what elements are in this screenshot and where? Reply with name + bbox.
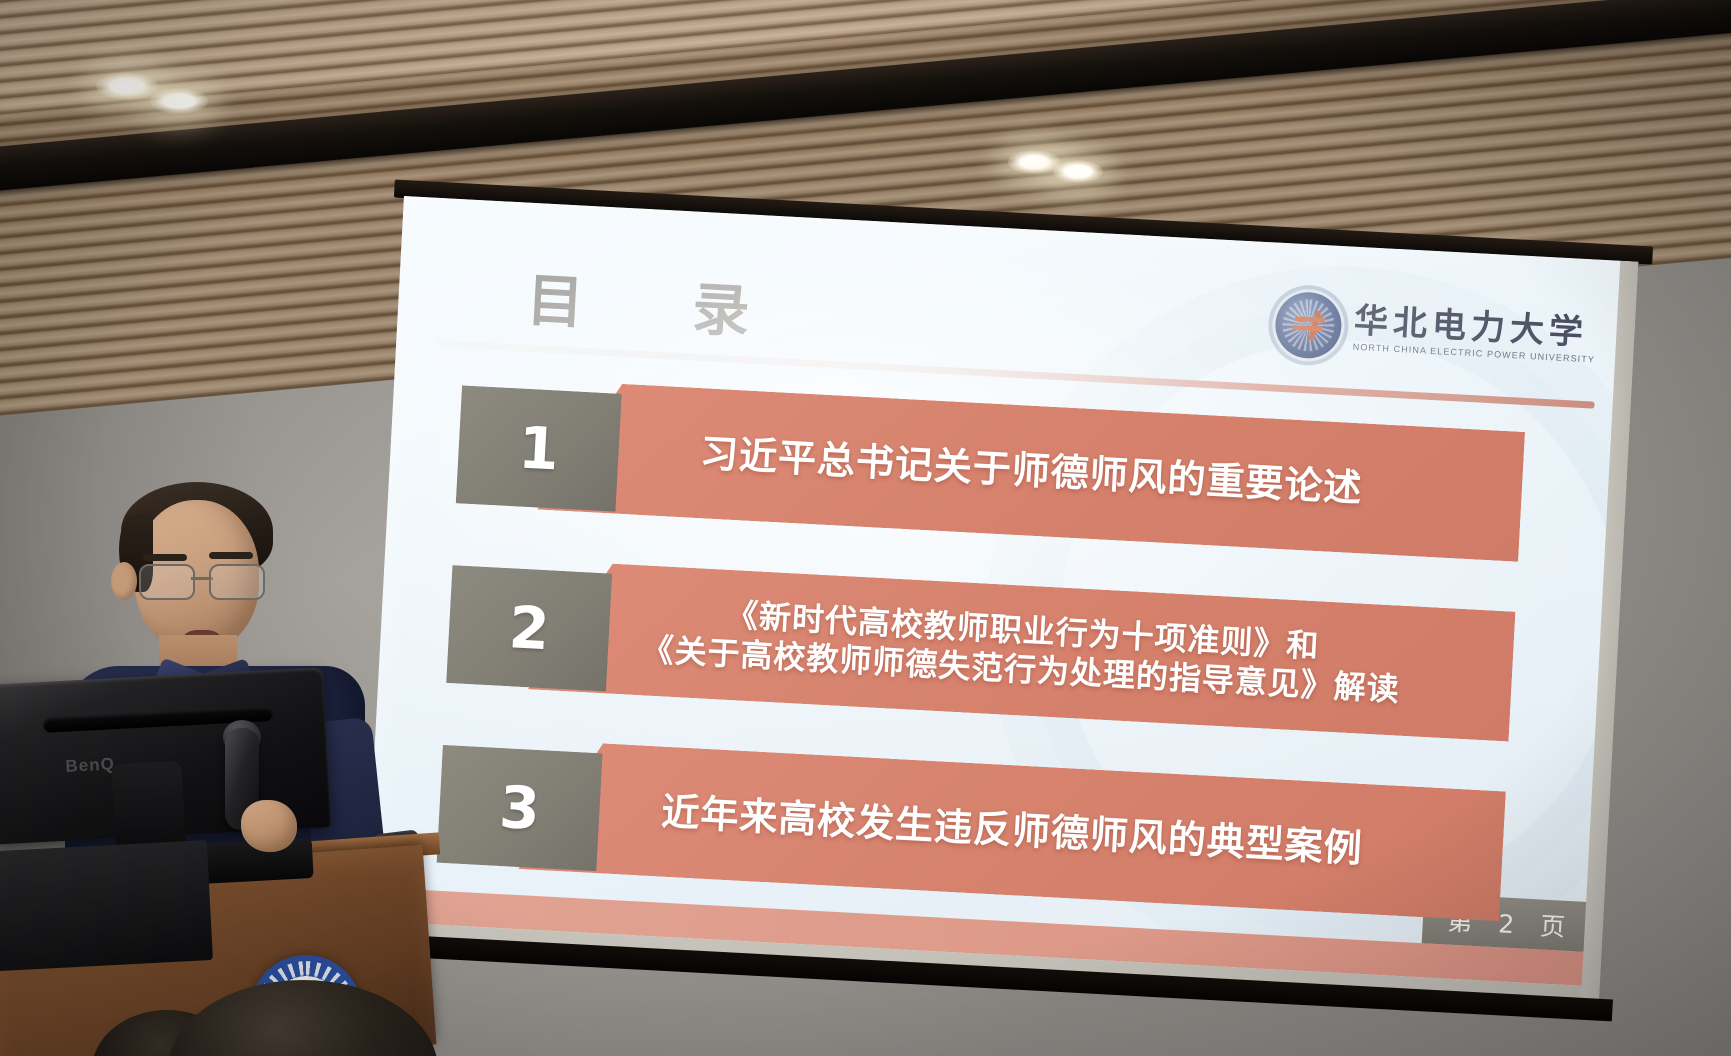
- contents-bar-3: 近年来高校发生违反师德师风的典型案例: [518, 739, 1506, 921]
- contents-number-box-1: 1: [456, 385, 622, 511]
- contents-number-2: 2: [507, 598, 550, 658]
- slide-contents-list: 习近平总书记关于师德师风的重要论述 1 《新时代高校教师职业行为十项准则》和 《…: [366, 372, 1625, 977]
- monitor-secondary: [0, 840, 213, 972]
- ceiling-downlight-1: [96, 72, 158, 100]
- presenter-ear: [111, 562, 137, 600]
- glasses-lens-right: [209, 564, 265, 600]
- presenter-hand-holding-mic: [241, 800, 297, 852]
- university-emblem-icon: [1274, 291, 1343, 360]
- presenter-glasses: [139, 564, 265, 598]
- projection-screen: 目 录 华北电力大学 NORTH CHINA ELECTRIC POWER UN…: [365, 196, 1639, 1001]
- contents-bar-1: 习近平总书记关于师德师风的重要论述: [538, 380, 1526, 562]
- contents-number-3: 3: [498, 778, 541, 838]
- lecture-hall-photo: 目 录 华北电力大学 NORTH CHINA ELECTRIC POWER UN…: [0, 0, 1731, 1056]
- glasses-lens-left: [139, 564, 195, 600]
- contents-text-3: 近年来高校发生违反师德师风的典型案例: [634, 787, 1389, 873]
- contents-bar-2: 《新时代高校教师职业行为十项准则》和 《关于高校教师师德失范行为处理的指导意见》…: [528, 559, 1516, 741]
- contents-text-1: 习近平总书记关于师德师风的重要论述: [673, 429, 1389, 513]
- presenter-brow-right: [209, 552, 253, 559]
- contents-text-2: 《新时代高校教师职业行为十项准则》和 《关于高校教师师德失范行为处理的指导意见》…: [615, 590, 1429, 711]
- university-logo-text: 华北电力大学 NORTH CHINA ELECTRIC POWER UNIVER…: [1352, 304, 1597, 365]
- screen-surface: 目 录 华北电力大学 NORTH CHINA ELECTRIC POWER UN…: [365, 196, 1639, 1001]
- contents-number-box-2: 2: [446, 565, 612, 691]
- contents-row-1: 习近平总书记关于师德师风的重要论述 1: [387, 372, 1624, 573]
- contents-number-box-3: 3: [437, 745, 603, 871]
- projected-slide: 目 录 华北电力大学 NORTH CHINA ELECTRIC POWER UN…: [365, 196, 1634, 987]
- slide-title: 目 录: [525, 255, 778, 350]
- ceiling-downlight-4: [1053, 160, 1103, 183]
- contents-number-1: 1: [517, 418, 560, 478]
- monitor-brand-label: BenQ: [65, 754, 115, 777]
- university-logo: 华北电力大学 NORTH CHINA ELECTRIC POWER UNIVER…: [1274, 291, 1598, 374]
- ceiling-downlight-2: [150, 88, 208, 114]
- presenter-brow-left: [143, 554, 187, 561]
- contents-row-2: 《新时代高校教师职业行为十项准则》和 《关于高校教师师德失范行为处理的指导意见》…: [378, 551, 1615, 752]
